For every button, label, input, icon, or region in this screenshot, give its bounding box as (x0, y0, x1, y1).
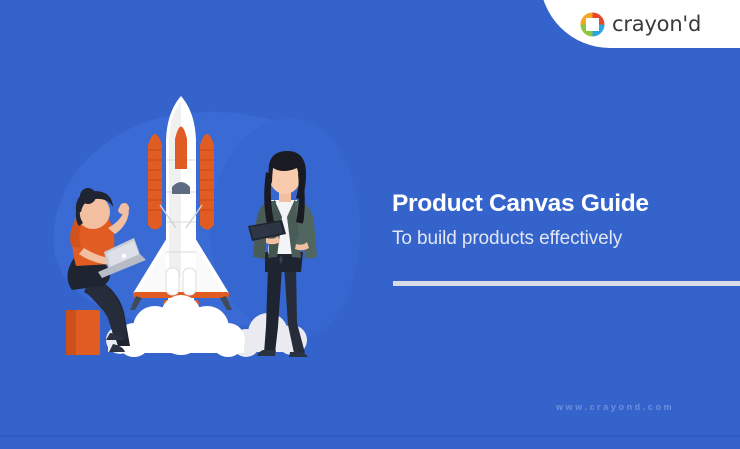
website-url[interactable]: www.crayond.com (556, 402, 674, 412)
rocket-launch-illustration (0, 0, 400, 449)
brand-wordmark: crayon'd (612, 12, 701, 36)
headline-divider (393, 281, 740, 286)
page-subtitle: To build products effectively (392, 228, 722, 250)
headline-block: Product Canvas Guide To build products e… (392, 188, 722, 250)
crayond-circle-logo-icon (580, 12, 605, 37)
banner-canvas: crayon'd Product Canvas Guide To build p… (0, 0, 740, 449)
page-title: Product Canvas Guide (392, 188, 722, 219)
brand-logo[interactable]: crayon'd (540, 0, 740, 48)
ground-line (0, 435, 740, 437)
